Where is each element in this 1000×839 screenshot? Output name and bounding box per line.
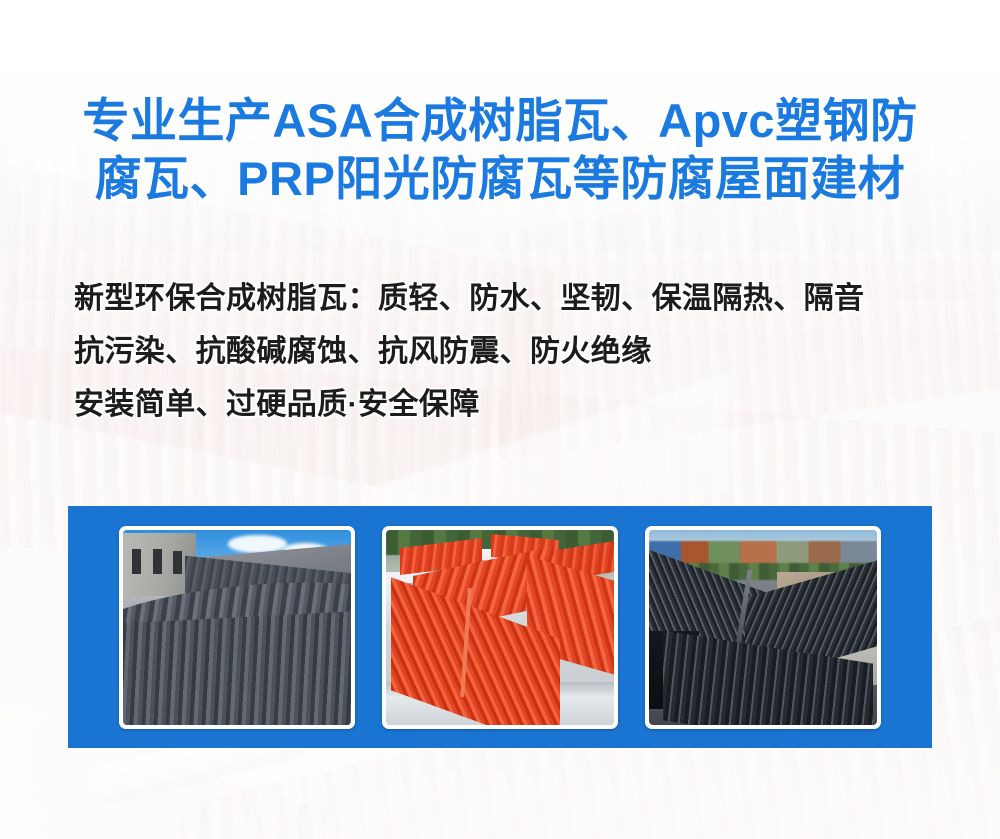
photo1-window-c (173, 551, 182, 574)
black-resin-tile-roof-photo[interactable] (645, 526, 881, 729)
photo1-window-b (153, 549, 162, 574)
headline-line-2: 腐瓦、PRP阳光防腐瓦等防腐屋面建材 (0, 150, 1000, 208)
product-photo-row (68, 506, 932, 748)
promo-banner: 专业生产ASA合成树脂瓦、Apvc塑钢防 腐瓦、PRP阳光防腐瓦等防腐屋面建材 … (0, 0, 1000, 839)
photo1-lower-tile-roof (123, 610, 351, 724)
feature-line-3: 安装简单、过硬品质·安全保障 (74, 378, 864, 431)
photo1-window-a (132, 549, 141, 574)
headline-line-1: 专业生产ASA合成树脂瓦、Apvc塑钢防 (0, 92, 1000, 150)
grey-resin-tile-roof-photo[interactable] (119, 526, 355, 729)
headline: 专业生产ASA合成树脂瓦、Apvc塑钢防 腐瓦、PRP阳光防腐瓦等防腐屋面建材 (0, 92, 1000, 208)
product-gallery-panel (68, 506, 932, 748)
black-roof-image (649, 530, 877, 725)
grey-roof-image (123, 530, 351, 725)
feature-list: 新型环保合成树脂瓦：质轻、防水、坚韧、保温隔热、隔音 抗污染、抗酸碱腐蚀、抗风防… (74, 272, 864, 431)
feature-line-1: 新型环保合成树脂瓦：质轻、防水、坚韧、保温隔热、隔音 (74, 272, 864, 325)
red-roof-image (386, 530, 614, 725)
red-resin-tile-roof-photo[interactable] (382, 526, 618, 729)
feature-line-2: 抗污染、抗酸碱腐蚀、抗风防震、防火绝缘 (74, 325, 864, 378)
